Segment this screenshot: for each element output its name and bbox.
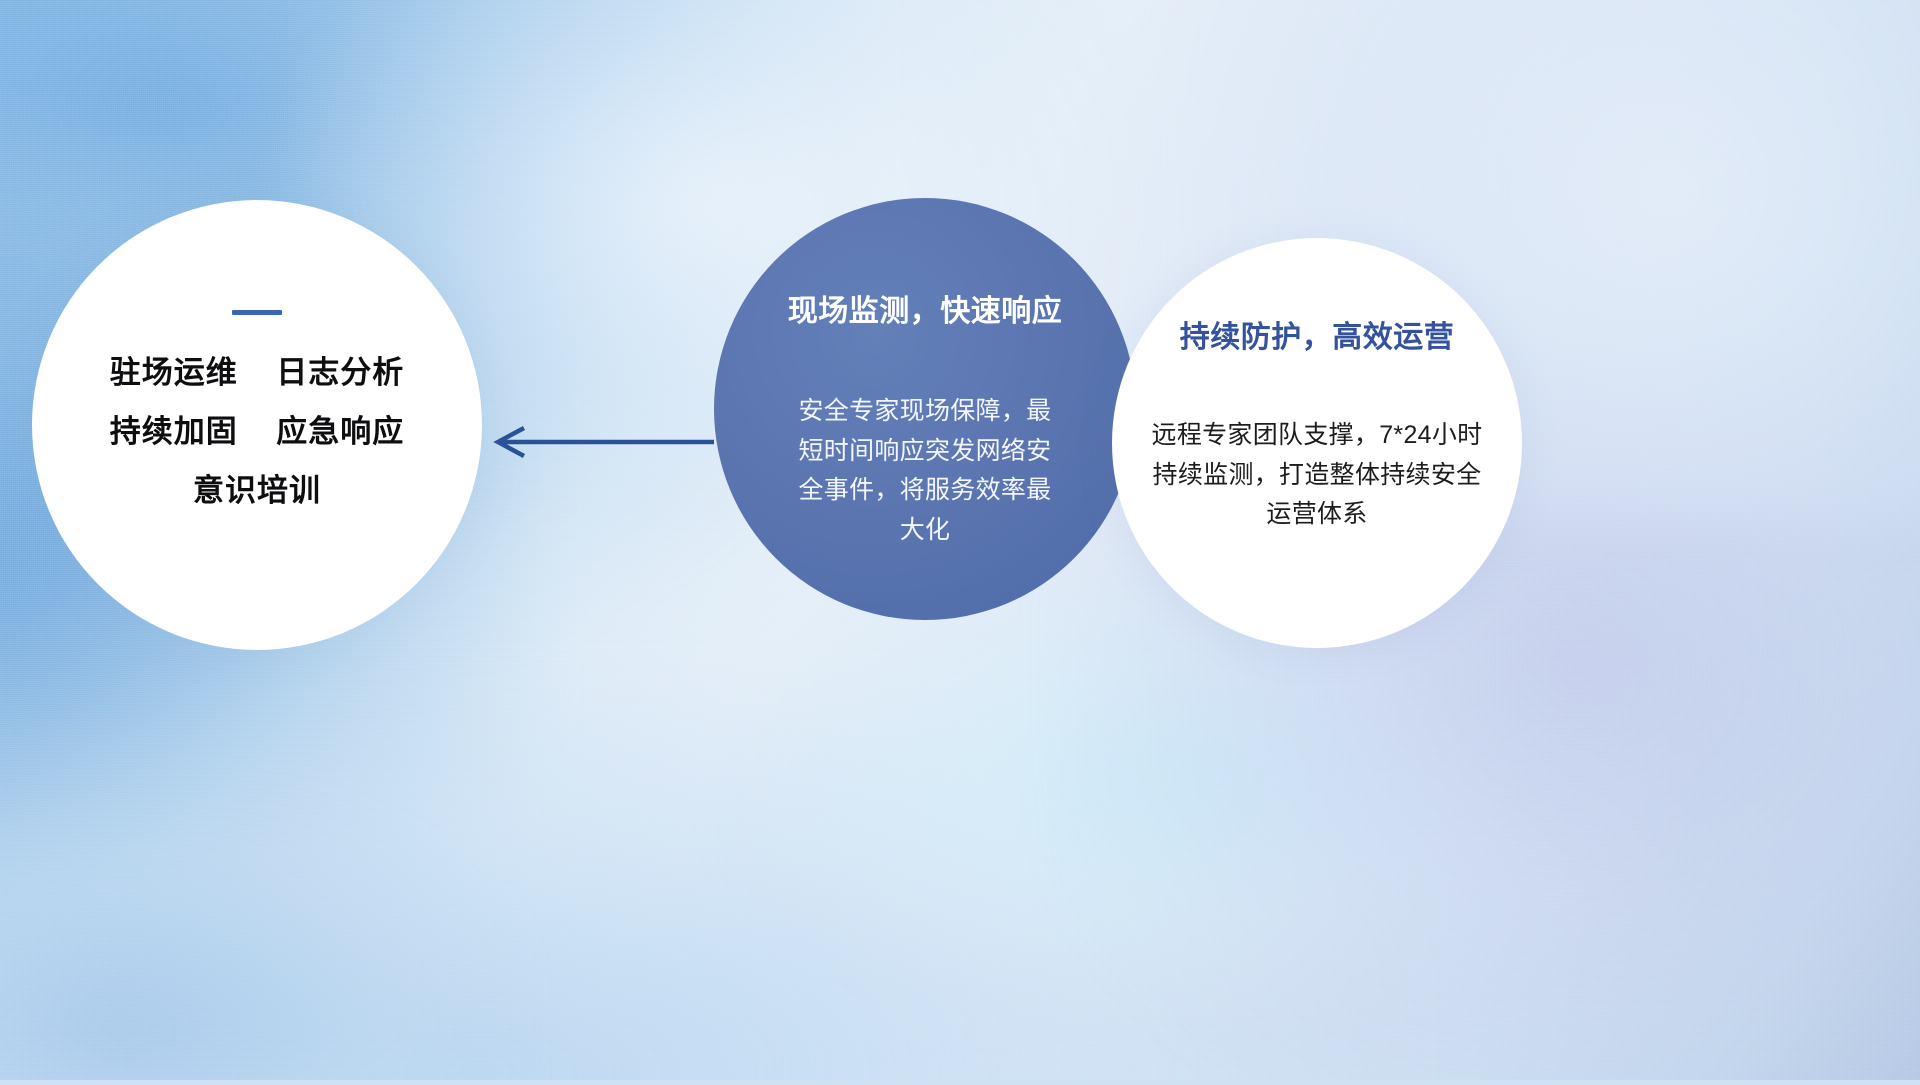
middle-circle-body: 安全专家现场保障，最短时间响应突发网络安全事件，将服务效率最大化 bbox=[786, 392, 1064, 550]
left-text-line-1: 驻场运维 日志分析 bbox=[110, 357, 404, 390]
divider-dash-icon bbox=[232, 310, 282, 315]
right-circle-title: 持续防护，高效运营 bbox=[1180, 312, 1455, 356]
left-text-line-2: 持续加固 应急响应 bbox=[110, 416, 404, 449]
left-text-line-3: 意识培训 bbox=[110, 475, 404, 508]
left-circle-text-block: 驻场运维 日志分析 持续加固 应急响应 意识培训 bbox=[110, 357, 404, 508]
right-circle-body: 远程专家团队支撑，7*24小时持续监测，打造整体持续安全运营体系 bbox=[1147, 416, 1487, 535]
middle-onsite-circle: 现场监测，快速响应 安全专家现场保障，最短时间响应突发网络安全事件，将服务效率最… bbox=[714, 198, 1136, 620]
right-operations-circle: 持续防护，高效运营 远程专家团队支撑，7*24小时持续监测，打造整体持续安全运营… bbox=[1112, 238, 1522, 648]
left-capability-circle: 驻场运维 日志分析 持续加固 应急响应 意识培训 bbox=[32, 200, 482, 650]
middle-circle-title: 现场监测，快速响应 bbox=[788, 286, 1063, 330]
